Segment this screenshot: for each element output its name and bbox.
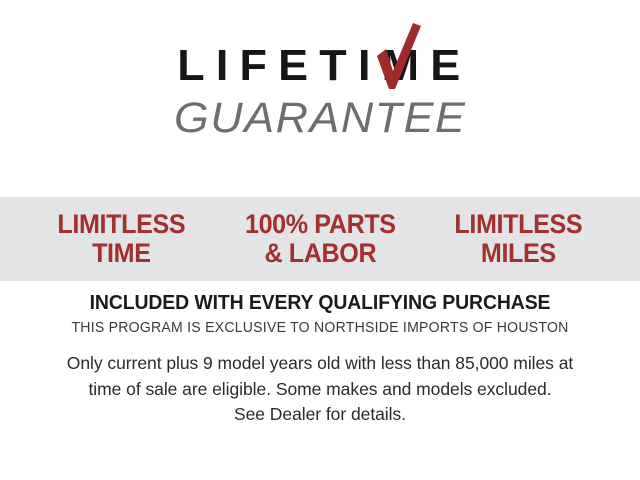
fineprint-line: See Dealer for details. [36, 402, 604, 427]
feature-column-parts-labor: 100% PARTS & LABOR [228, 210, 413, 268]
feature-band: LIMITLESS TIME 100% PARTS & LABOR LIMITL… [0, 197, 640, 281]
feature-line-2: & LABOR [228, 239, 413, 268]
feature-line-1: LIMITLESS [57, 209, 185, 239]
feature-line-2: MILES [426, 239, 611, 268]
logo-secondary-word: GUARANTEE [166, 97, 474, 140]
headline: INCLUDED WITH EVERY QUALIFYING PURCHASE [10, 292, 631, 315]
fineprint-paragraph: Only current plus 9 model years old with… [0, 351, 640, 427]
logo-lifetime-wrap: LIFETIME GUARANTEE [172, 44, 468, 140]
copy-block: INCLUDED WITH EVERY QUALIFYING PURCHASE … [0, 292, 640, 428]
subline-exclusive-dealer: THIS PROGRAM IS EXCLUSIVE TO NORTHSIDE I… [10, 320, 631, 337]
feature-line-2: TIME [29, 239, 214, 268]
feature-column-limitless-miles: LIMITLESS MILES [426, 210, 611, 268]
feature-line-1: 100% PARTS [245, 209, 396, 239]
fineprint-line: time of sale are eligible. Some makes an… [36, 377, 604, 402]
feature-column-limitless-time: LIMITLESS TIME [29, 210, 214, 268]
feature-line-1: LIMITLESS [455, 209, 583, 239]
logo-block: LIFETIME GUARANTEE [0, 44, 640, 140]
lifetime-guarantee-poster: LIFETIME GUARANTEE LIMITLESS TIME 100% P… [0, 0, 640, 480]
logo-primary-word: LIFETIME [169, 44, 471, 88]
fineprint-line: Only current plus 9 model years old with… [36, 351, 604, 376]
